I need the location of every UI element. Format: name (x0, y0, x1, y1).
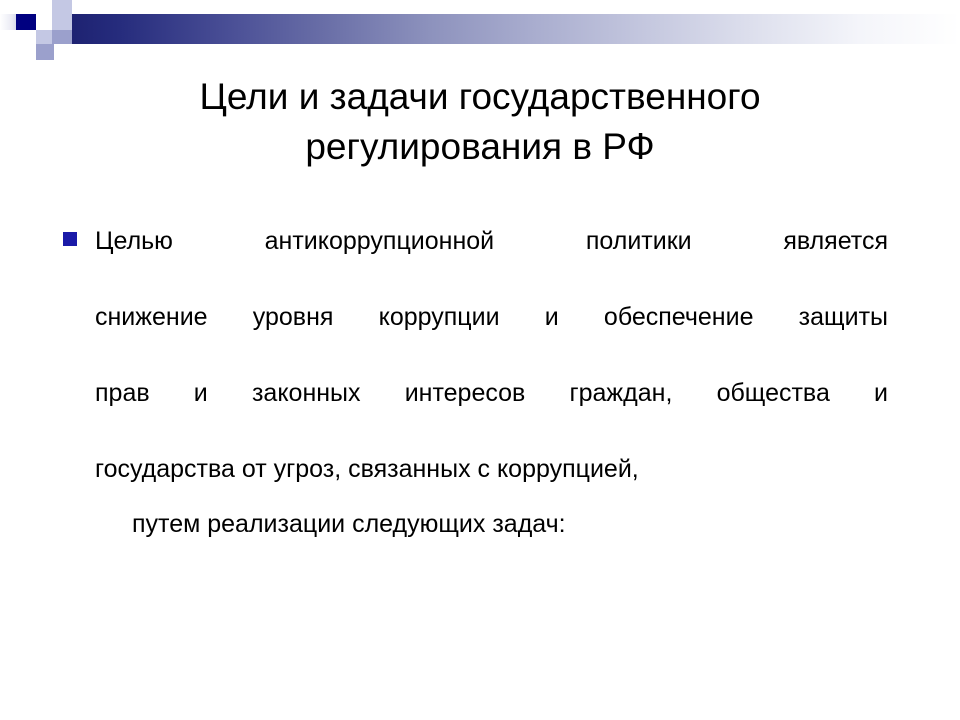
bullet-tail-line: путем реализации следующих задач: (95, 505, 888, 543)
slide-body: Целью антикоррупционной политики являетс… (58, 222, 888, 543)
deco-square-white-bottomfill (54, 44, 74, 60)
bullet-paragraph: Целью антикоррупционной политики являетс… (95, 222, 888, 488)
deco-square-white-lowleft (0, 30, 20, 62)
gradient-band (0, 14, 960, 44)
bullet-line-2: снижение уровня коррупции и обеспечение … (95, 298, 888, 374)
bullet-item: Целью антикоррупционной политики являетс… (58, 222, 888, 543)
slide-canvas: Цели и задачи государственного регулиров… (0, 0, 960, 720)
deco-square-light-midB (52, 14, 72, 30)
bullet-line-4: государства от угроз, связанных с корруп… (95, 450, 888, 488)
slide-title: Цели и задачи государственного регулиров… (60, 72, 900, 172)
deco-square-white-topright (72, 0, 960, 14)
deco-square-mid-bottom (36, 44, 54, 60)
deco-square-light-top (52, 0, 72, 14)
deco-square-white-topmid (16, 0, 52, 14)
deco-square-mid-lowC (52, 30, 72, 44)
deco-square-light-lowB (36, 30, 52, 44)
bullet-line-3: прав и законных интересов граждан, общес… (95, 374, 888, 450)
deco-square-white-midA (36, 14, 52, 30)
title-line-1: Цели и задачи государственного (60, 72, 900, 122)
deco-square-white-lowA (20, 30, 36, 44)
deco-square-white-belowbar (18, 44, 36, 56)
bullet-line-1: Целью антикоррупционной политики являетс… (95, 222, 888, 298)
deco-square-navy-left (16, 14, 36, 30)
deco-square-white-lowright (74, 44, 960, 62)
header-decoration (0, 0, 960, 62)
title-line-2: регулирования в РФ (60, 122, 900, 172)
square-bullet-icon (63, 232, 77, 246)
deco-square-white-topleft (0, 0, 16, 14)
